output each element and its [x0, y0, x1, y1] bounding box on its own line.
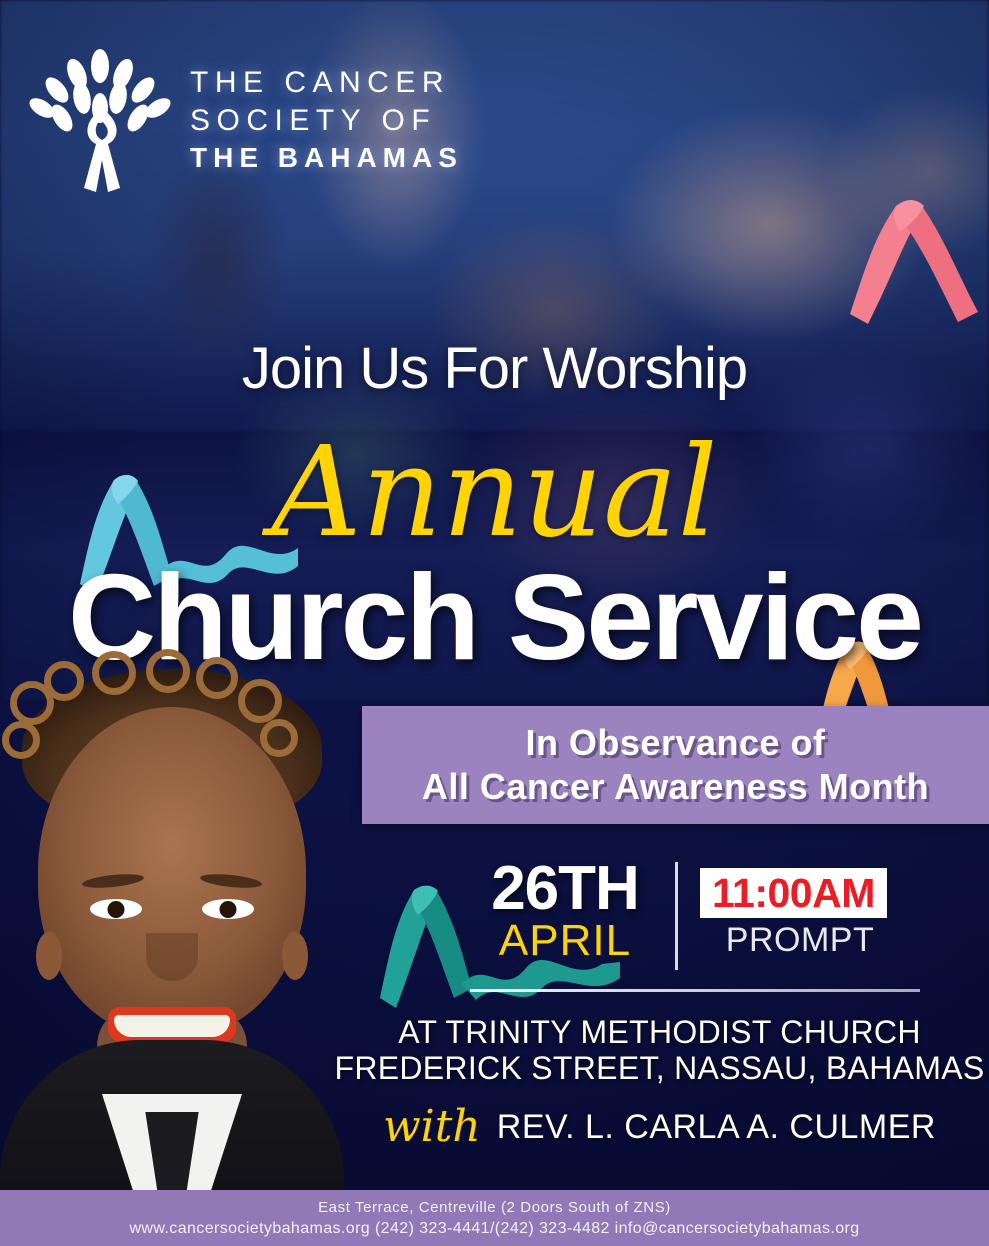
- script-annual: Annual: [0, 430, 989, 555]
- speaker-name: REV. L. CARLA A. CULMER: [497, 1107, 936, 1147]
- event-venue: AT TRINITY METHODIST CHURCH FREDERICK ST…: [330, 1014, 989, 1086]
- vertical-divider: [675, 862, 678, 970]
- portrait-curl: [44, 661, 84, 701]
- horizontal-divider: [470, 989, 920, 992]
- venue-line-2: FREDERICK STREET, NASSAU, BAHAMAS: [330, 1050, 989, 1086]
- portrait-eye-left: [90, 899, 142, 919]
- portrait-curl: [196, 657, 238, 699]
- logo-line-3: THE BAHAMAS: [190, 140, 550, 176]
- portrait-pupil: [108, 901, 125, 918]
- portrait-ear-right: [282, 932, 308, 980]
- with-word: with: [383, 1104, 481, 1150]
- organization-logo: THE CANCER SOCIETY OF THE BAHAMAS: [22, 48, 542, 198]
- event-time: 11:00AM: [712, 872, 875, 914]
- speaker-portrait: [0, 645, 358, 1190]
- venue-line-1: AT TRINITY METHODIST CHURCH: [330, 1014, 989, 1050]
- observance-line-2: All Cancer Awareness Month: [422, 765, 929, 809]
- portrait-curl: [2, 721, 40, 759]
- footer-bar: East Terrace, Centreville (2 Doors South…: [0, 1190, 989, 1246]
- portrait-brow-right: [200, 872, 263, 890]
- event-time-box: 11:00AM: [700, 868, 887, 918]
- flyer-poster: THE CANCER SOCIETY OF THE BAHAMAS Join U…: [0, 0, 989, 1246]
- footer-contact: www.cancersocietybahamas.org (242) 323-4…: [129, 1218, 859, 1239]
- footer-address: East Terrace, Centreville (2 Doors South…: [318, 1198, 671, 1218]
- event-time-note: PROMPT: [690, 920, 910, 960]
- portrait-curl: [260, 719, 298, 757]
- portrait-teeth: [114, 1015, 230, 1037]
- eyebrow-join-us: Join Us For Worship: [0, 335, 989, 402]
- portrait-curl: [92, 651, 136, 695]
- tree-ribbon-logo-icon: [22, 48, 182, 198]
- logo-line-1: THE CANCER: [190, 64, 550, 102]
- portrait-face: [38, 707, 306, 1037]
- speaker-line: with REV. L. CARLA A. CULMER: [330, 1104, 989, 1150]
- portrait-brow-left: [82, 872, 145, 890]
- portrait-curl: [238, 679, 282, 723]
- portrait-pupil: [220, 901, 237, 918]
- logo-line-2: SOCIETY OF: [190, 102, 550, 140]
- event-date-month: APRIL: [460, 918, 670, 964]
- observance-banner: In Observance of All Cancer Awareness Mo…: [362, 706, 989, 824]
- observance-line-1: In Observance of: [525, 721, 825, 765]
- portrait-eye-right: [202, 899, 254, 919]
- pink-awareness-ribbon: [838, 196, 988, 326]
- portrait-curl: [146, 649, 190, 693]
- portrait-nose: [146, 933, 198, 981]
- event-date-number: 26TH: [460, 858, 670, 920]
- portrait-ear-left: [36, 932, 62, 980]
